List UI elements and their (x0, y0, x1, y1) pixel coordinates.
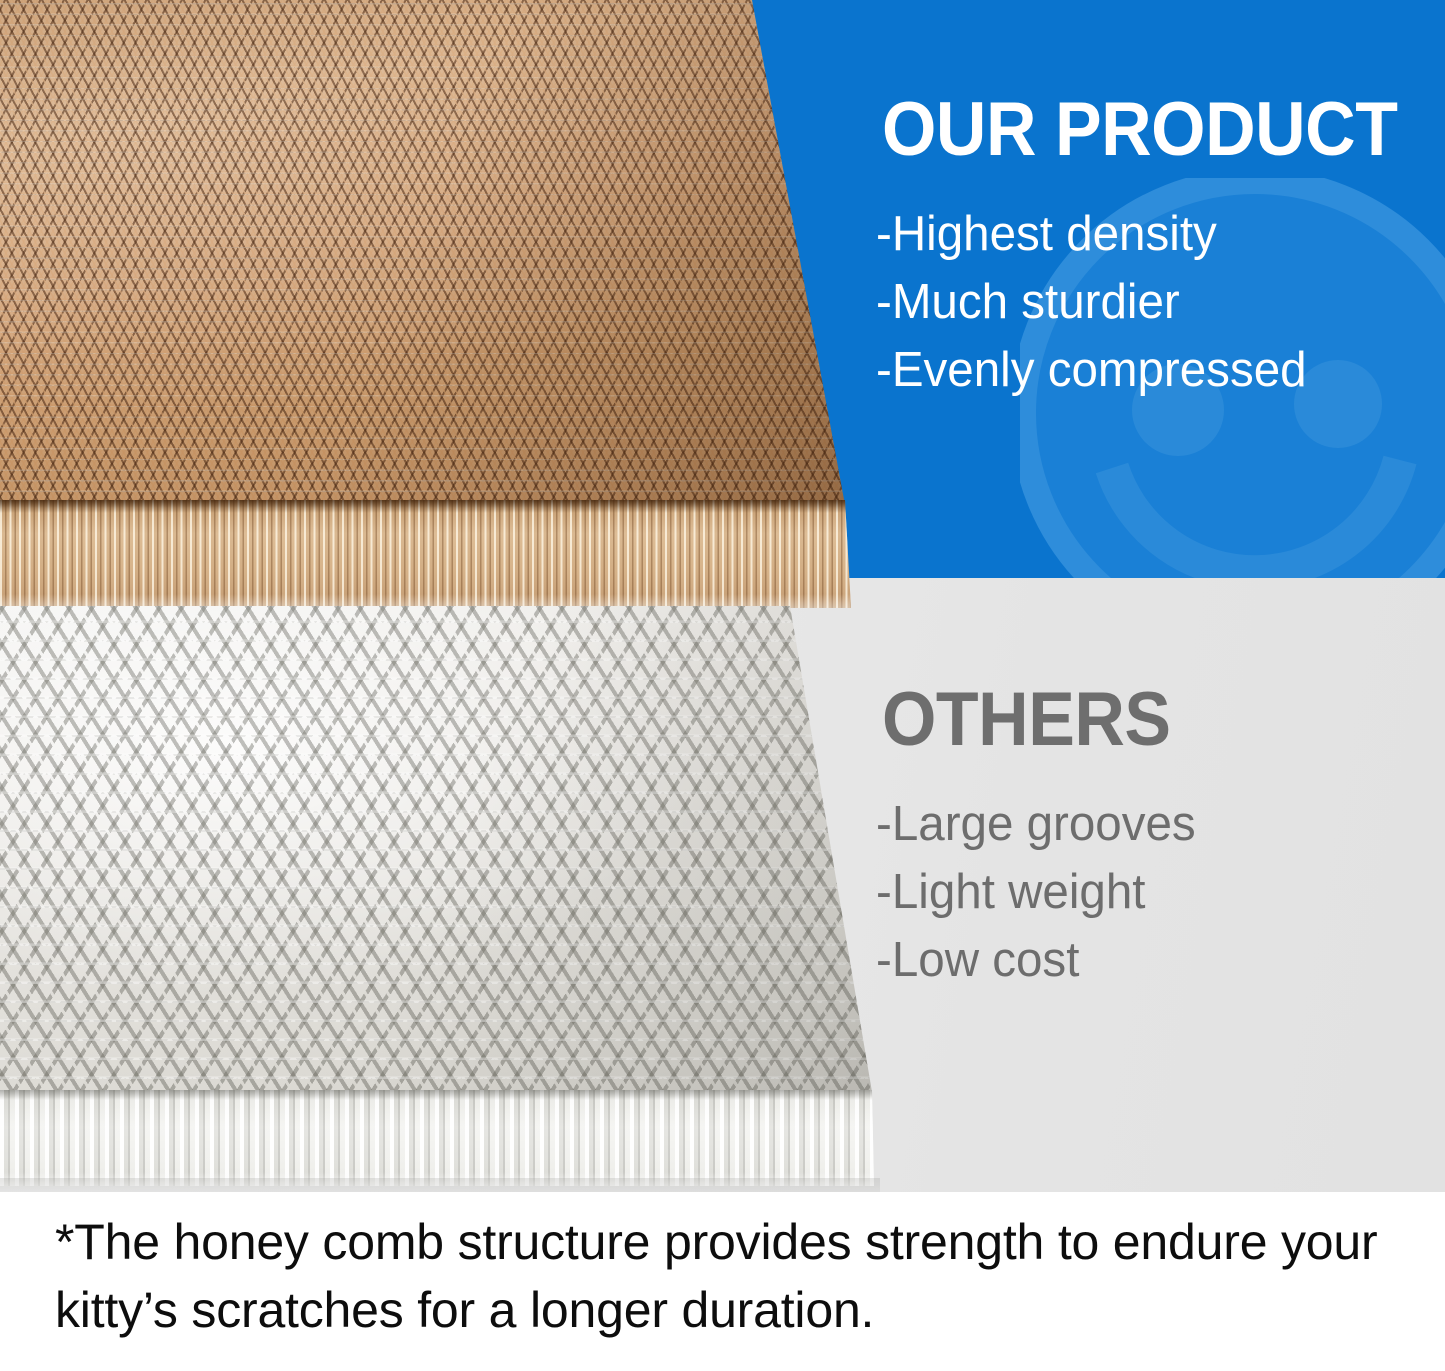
our-product-bullet-3: -Evenly compressed (876, 336, 1307, 404)
brown-edge-top-shadow (0, 500, 860, 513)
others-bullet-3: -Low cost (876, 926, 1196, 994)
white-face-shading (0, 606, 900, 1096)
brown-board-cut-edge (0, 500, 860, 612)
our-product-bullet-2: -Much sturdier (876, 268, 1307, 336)
our-product-bullet-list: -Highest density -Much sturdier -Evenly … (876, 200, 1320, 404)
white-edge-top-shadow (0, 1090, 900, 1100)
infographic-canvas: OUR PRODUCT -Highest density -Much sturd… (0, 0, 1445, 1371)
others-heading: OTHERS (882, 680, 1171, 760)
white-honeycomb-cardboard-photo (0, 606, 900, 1096)
brown-face-shading (0, 0, 860, 505)
footnote-text: *The honey comb structure provides stren… (55, 1208, 1415, 1344)
footnote-bar: *The honey comb structure provides stren… (0, 1192, 1445, 1371)
our-product-bullet-1: -Highest density (876, 200, 1307, 268)
brown-honeycomb-cardboard-photo (0, 0, 860, 505)
others-bullet-1: -Large grooves (876, 790, 1196, 858)
others-bullet-2: -Light weight (876, 858, 1196, 926)
others-bullet-list: -Large grooves -Light weight -Low cost (876, 790, 1206, 994)
our-product-heading: OUR PRODUCT (882, 90, 1397, 170)
